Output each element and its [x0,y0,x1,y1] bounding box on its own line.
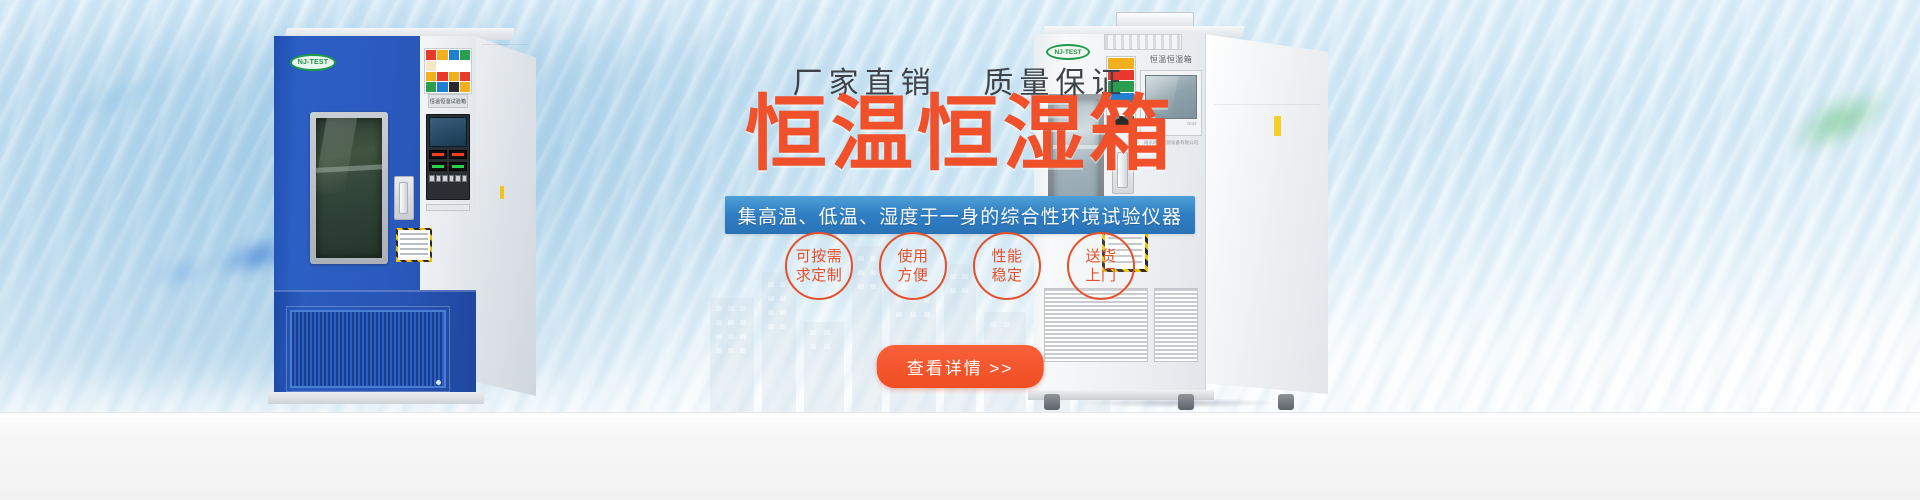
badge-line-1: 可按需 [796,247,843,266]
badge-line-2: 稳定 [991,266,1022,285]
view-details-button[interactable]: 查看详情 >> [877,345,1044,388]
cabinet-side-panel [474,36,536,396]
promo-banner: NJ-TEST 恒温恒湿试验箱 [0,0,1920,500]
control-panel [426,114,470,200]
badge-line-1: 送货 [1085,247,1116,266]
cabinet-seam-line [482,44,528,45]
subtitle-text: 集高温、低温、湿度于一身的综合性环境试验仪器 [738,202,1182,229]
cabinet-name-plate: 恒温恒湿试验箱 [428,94,468,108]
feature-badge-list: 可按需 求定制 使用 方便 性能 稳定 送货 上门 [785,232,1135,300]
badge-line-1: 使用 [897,247,928,266]
cabinet-base [268,392,484,404]
led-readout [449,162,467,171]
panel-footer-label [426,204,470,211]
feature-badge-delivery[interactable]: 送货 上门 [1067,232,1135,300]
feature-badge-stable[interactable]: 性能 稳定 [973,232,1041,300]
led-readout [429,162,447,171]
status-dot-icon [436,380,441,385]
brand-logo-icon: NJ-TEST [290,54,336,71]
side-yellow-marker-icon [500,186,504,199]
door-window-frame [310,112,388,264]
badge-line-2: 方便 [897,266,928,285]
door-handle [399,182,408,214]
feature-badge-custom[interactable]: 可按需 求定制 [785,232,853,300]
led-readout [449,150,467,159]
badge-line-2: 上门 [1085,266,1116,285]
page-title: 恒温恒湿箱 [576,92,1344,179]
product-image-left: NJ-TEST 恒温恒湿试验箱 [268,28,536,400]
copy-block: 厂家直销 质量保证 恒温恒湿箱 集高温、低温、湿度于一身的综合性环境试验仪器 可… [576,0,1344,500]
feature-badge-easy-use[interactable]: 使用 方便 [879,232,947,300]
hazard-warning-label [396,228,432,262]
subtitle-bar: 集高温、低温、湿度于一身的综合性环境试验仪器 [725,196,1195,234]
control-screen [429,117,467,147]
led-readout [429,150,447,159]
button-row [429,175,467,182]
led-display-row [429,162,467,171]
door-window-glass [316,118,382,258]
led-display-row [429,150,467,159]
badge-line-2: 求定制 [796,266,843,285]
badge-line-1: 性能 [991,247,1022,266]
safety-sticker-grid [424,48,472,94]
brand-logo-text: NJ-TEST [298,59,329,66]
ventilation-grille [290,310,446,388]
